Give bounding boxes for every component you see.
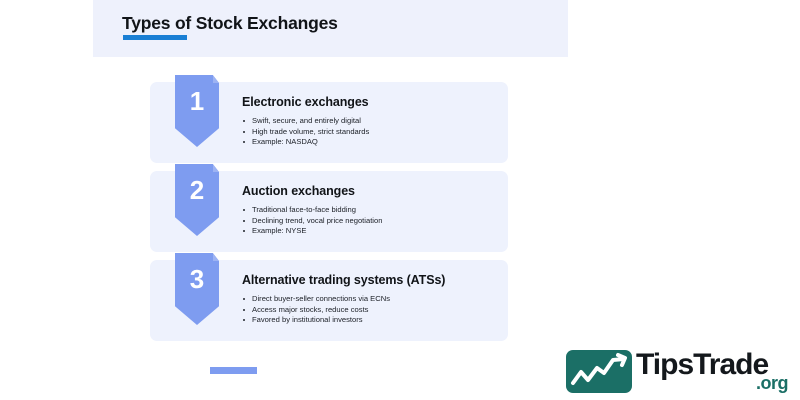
bullet-item: Example: NASDAQ [242,137,498,148]
uptrend-chart-icon [566,350,632,393]
bullet-item: Direct buyer-seller connections via ECNs [242,294,498,305]
card-list: 1 Electronic exchanges Swift, secure, an… [150,82,508,349]
step-number-badge: 3 [175,253,219,325]
brand-logo[interactable]: TipsTrade .org [566,348,790,396]
card-bullet-list: Traditional face-to-face bidding Declini… [242,205,498,237]
list-item[interactable]: 1 Electronic exchanges Swift, secure, an… [150,82,508,163]
bullet-item: Access major stocks, reduce costs [242,305,498,316]
card-heading: Auction exchanges [242,184,498,198]
logo-tld: .org [756,373,788,394]
bottom-accent-bar [210,367,257,374]
step-number: 1 [175,88,219,114]
card-heading: Electronic exchanges [242,95,498,109]
bullet-item: Traditional face-to-face bidding [242,205,498,216]
card-bullet-list: Direct buyer-seller connections via ECNs… [242,294,498,326]
bullet-item: Declining trend, vocal price negotiation [242,216,498,227]
step-number: 2 [175,177,219,203]
list-item[interactable]: 3 Alternative trading systems (ATSs) Dir… [150,260,508,341]
step-number-badge: 1 [175,75,219,147]
logo-wordmark: TipsTrade [636,348,768,382]
card-body: Alternative trading systems (ATSs) Direc… [242,273,498,326]
bullet-item: High trade volume, strict standards [242,127,498,138]
card-bullet-list: Swift, secure, and entirely digital High… [242,116,498,148]
bullet-item: Swift, secure, and entirely digital [242,116,498,127]
card-heading: Alternative trading systems (ATSs) [242,273,498,287]
card-body: Electronic exchanges Swift, secure, and … [242,95,498,148]
page-title: Types of Stock Exchanges [122,13,338,34]
bullet-item: Favored by institutional investors [242,315,498,326]
list-item[interactable]: 2 Auction exchanges Traditional face-to-… [150,171,508,252]
step-number: 3 [175,266,219,292]
bullet-item: Example: NYSE [242,226,498,237]
card-body: Auction exchanges Traditional face-to-fa… [242,184,498,237]
step-number-badge: 2 [175,164,219,236]
title-accent-underline [123,35,187,40]
